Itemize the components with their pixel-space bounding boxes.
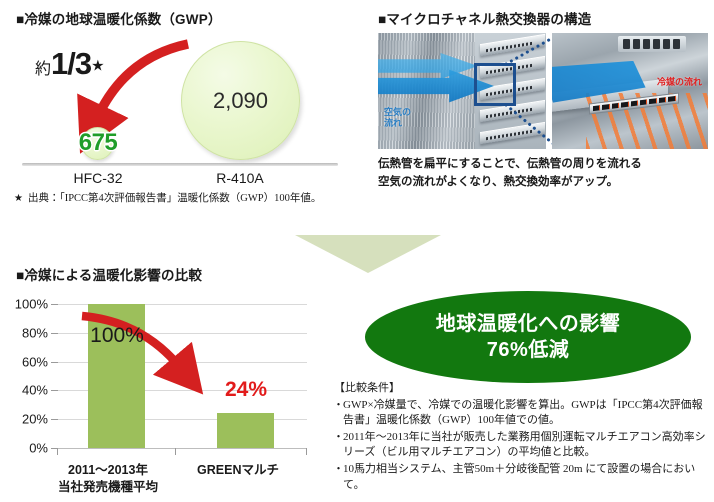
bubble-r410a: 2,090: [181, 41, 300, 160]
bar-value-label-24: 24%: [205, 378, 287, 402]
microchannel-section-heading: ■マイクロチャネル熱交換器の構造: [378, 8, 591, 28]
ytick-label-0: 0%: [29, 441, 48, 456]
vent-louver-graphic: [618, 36, 687, 51]
result-line-2: 76%低減: [487, 337, 570, 363]
refrigerant-flow-label: 冷媒の流れ: [657, 75, 702, 88]
result-line-1: 地球温暖化への影響: [436, 311, 621, 337]
ytick-label-40: 40%: [22, 383, 48, 398]
xtick-right: [306, 448, 307, 455]
air-flow-label-line2: 流れ: [384, 118, 444, 129]
xaxis-label-2011-2013-line1: 2011〜2013年: [45, 462, 171, 479]
panel-bar-chart: ■冷媒による温暖化影響の比較 100% 80% 60% 40% 20% 0%: [0, 255, 340, 502]
gwp-baseline: [22, 163, 338, 166]
gwp-section-heading: ■冷媒の地球温暖化係数（GWP）: [16, 8, 222, 28]
ratio-prefix: 約: [35, 61, 51, 78]
bar-section-heading: ■冷媒による温暖化影響の比較: [16, 264, 202, 284]
photo-heat-exchanger-overview: 空気の 流れ: [378, 33, 546, 149]
result-highlight-ellipse: 地球温暖化への影響 76%低減: [365, 291, 691, 383]
bar-value-label-100: 100%: [77, 324, 157, 348]
ratio-annotation: 約1/3★: [35, 46, 105, 82]
comparison-conditions-notes: 【比較条件】 GWP×冷媒量で、冷媒での温暖化影響を算出。GWPは「IPCC第4…: [334, 381, 708, 494]
notes-list: GWP×冷媒量で、冷媒での温暖化影響を算出。GWPは「IPCC第4次評価報告書」…: [334, 398, 708, 494]
panel-microchannel: ■マイクロチャネル熱交換器の構造 空気の 流れ: [366, 0, 714, 215]
ratio-star-icon: ★: [91, 57, 104, 74]
microchannel-caption-line1: 伝熱管を扁平にすることで、伝熱管の周りを流れる: [378, 156, 708, 174]
xaxis-label-green-multi: GREENマルチ: [175, 462, 301, 479]
source-star-icon: ★: [14, 193, 23, 204]
xaxis-label-2011-2013-line2: 当社発売機種平均: [45, 479, 171, 496]
infographic-page: ■冷媒の地球温暖化係数（GWP） 約1/3★ 2,090 675 HFC-32 …: [0, 0, 714, 502]
note-item: 10馬力相当システム、主管50m＋分岐後配管 20m にて設置の場合において。: [334, 462, 708, 493]
air-flow-label: 空気の 流れ: [384, 107, 444, 130]
xtick-left: [57, 448, 58, 455]
gwp-source-note: ★出典：「IPCC第4次評価報告書」温暖化係数（GWP）100年値。: [14, 190, 321, 205]
air-flow-label-line1: 空気の: [384, 107, 444, 118]
ytick-80: [51, 333, 58, 334]
ytick-label-80: 80%: [22, 325, 48, 340]
ytick-label-100: 100%: [15, 297, 48, 312]
note-item: 2011年〜2013年に当社が販売した業務用個別運転マルチエアコン高効率シリーズ…: [334, 430, 708, 461]
gwp-category-r410a: R-410A: [192, 170, 288, 186]
zoom-highlight-box: [474, 63, 516, 106]
microchannel-caption-line2: 空気の流れがよくなり、熱交換効率がアップ。: [378, 174, 708, 192]
notes-title: 【比較条件】: [334, 381, 708, 397]
xaxis-label-green-multi-line1: GREENマルチ: [175, 462, 301, 479]
gwp-source-text: 出典：「IPCC第4次評価報告書」温暖化係数（GWP）100年値。: [28, 193, 321, 204]
ratio-value: 1/3: [51, 46, 91, 81]
bar-chart-plot-area: 100% 80% 60% 40% 20% 0% 100%: [57, 304, 307, 448]
ytick-label-20: 20%: [22, 412, 48, 427]
panel-gwp-bubbles: ■冷媒の地球温暖化係数（GWP） 約1/3★ 2,090 675 HFC-32 …: [0, 0, 356, 215]
ytick-60: [51, 362, 58, 363]
bubble-r410a-value: 2,090: [213, 88, 268, 114]
photo-heat-exchanger-detail: 冷媒の流れ: [552, 33, 708, 149]
bubble-hfc32-value: 675: [60, 129, 136, 157]
ytick-label-60: 60%: [22, 354, 48, 369]
ytick-100: [51, 304, 58, 305]
bar-green-multi: [217, 413, 274, 448]
gwp-category-hfc32: HFC-32: [50, 170, 146, 186]
note-item: GWP×冷媒量で、冷媒での温暖化影響を算出。GWPは「IPCC第4次評価報告書」…: [334, 398, 708, 429]
ytick-20: [51, 419, 58, 420]
xtick-mid: [175, 448, 176, 455]
xaxis-label-2011-2013: 2011〜2013年 当社発売機種平均: [45, 462, 171, 496]
ytick-40: [51, 390, 58, 391]
gridline-0-axis: [57, 448, 307, 449]
microchannel-caption: 伝熱管を扁平にすることで、伝熱管の周りを流れる 空気の流れがよくなり、熱交換効率…: [378, 156, 708, 192]
